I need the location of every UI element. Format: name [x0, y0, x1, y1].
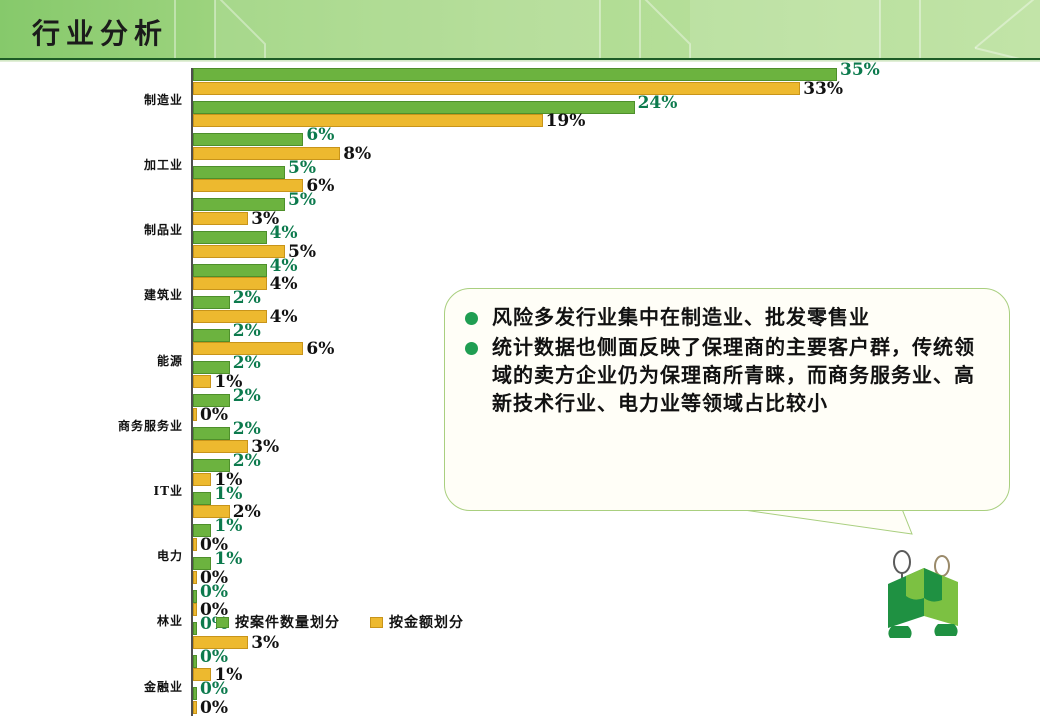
bar-按案件数量划分-9 [193, 687, 197, 700]
bar-value-label: 0% [200, 681, 228, 698]
slide-header: 行业分析 [0, 0, 1040, 58]
bar-按案件数量划分-3 [193, 264, 267, 277]
callout-bullet-text-0: 风险多发行业集中在制造业、批发零售业 [492, 303, 870, 331]
category-label-3: 建筑业 [8, 286, 183, 303]
bullet-dot-icon [465, 312, 478, 325]
bar-按金额划分-4 [193, 375, 211, 388]
bar-value-label: 2% [233, 290, 261, 307]
bar-按案件数量划分-8 [193, 590, 197, 603]
category-label-row: 电力 [0, 547, 183, 561]
bar-按金额划分-6 [193, 473, 211, 486]
category-label-1: 加工业 [8, 156, 183, 173]
bar-按金额划分-2 [193, 212, 248, 225]
callout-bullet-text-1: 统计数据也侧面反映了保理商的主要客户群，传统领域的卖方企业仍为保理商所青睐，而商… [492, 333, 991, 417]
bar-value-label: 5% [288, 192, 316, 209]
bar-value-label: 0% [200, 407, 228, 424]
page-title: 行业分析 [32, 12, 168, 52]
bar-value-label: 6% [306, 341, 334, 358]
bar-按案件数量划分-3 [193, 296, 230, 309]
category-label-row: IT业 [0, 482, 183, 496]
bar-value-label: 2% [233, 323, 261, 340]
category-label-row: 商务服务业 [0, 417, 183, 431]
category-label-row: 建筑业 [0, 286, 183, 300]
bar-value-label: 24% [638, 95, 678, 112]
bar-value-label: 0% [200, 584, 228, 601]
legend-label-0: 按案件数量划分 [235, 612, 340, 632]
bar-按金额划分-8 [193, 603, 197, 616]
company-logo-icon [866, 540, 986, 645]
bar-value-label: 1% [214, 486, 242, 503]
bar-value-label: 4% [270, 225, 298, 242]
category-label-row: 制品业 [0, 221, 183, 235]
bar-value-label: 33% [803, 81, 843, 98]
category-label-row: 能源 [0, 352, 183, 366]
chart-legend: 按案件数量划分 按金额划分 [216, 612, 464, 632]
bar-按金额划分-0 [193, 82, 800, 95]
bar-按案件数量划分-5 [193, 427, 230, 440]
category-label-4: 能源 [8, 352, 183, 369]
bar-value-label: 5% [288, 160, 316, 177]
category-label-row: 金融业 [0, 678, 183, 692]
bar-value-label: 8% [343, 146, 371, 163]
legend-swatch-green [216, 617, 229, 628]
bar-value-label: 1% [214, 518, 242, 535]
bar-value-label: 1% [214, 551, 242, 568]
bar-按金额划分-1 [193, 179, 303, 192]
bar-按案件数量划分-1 [193, 166, 285, 179]
bar-value-label: 4% [270, 258, 298, 275]
bar-value-label: 4% [270, 276, 298, 293]
bar-按金额划分-9 [193, 701, 197, 714]
bar-按案件数量划分-9 [193, 655, 197, 668]
bar-value-label: 0% [200, 649, 228, 666]
bar-按金额划分-7 [193, 538, 197, 551]
bar-value-label: 2% [233, 355, 261, 372]
bar-value-label: 4% [270, 309, 298, 326]
bar-value-label: 35% [840, 62, 880, 79]
category-label-5: 商务服务业 [8, 417, 183, 434]
category-label-row: 制造业 [0, 91, 183, 105]
bar-按案件数量划分-1 [193, 133, 303, 146]
bar-按案件数量划分-8 [193, 622, 197, 635]
bar-value-label: 3% [251, 635, 279, 652]
callout-bullet-0: 风险多发行业集中在制造业、批发零售业 [465, 303, 991, 331]
bar-value-label: 0% [200, 700, 228, 717]
bar-按案件数量划分-0 [193, 68, 837, 81]
category-label-2: 制品业 [8, 221, 183, 238]
category-label-row: 林业 [0, 612, 183, 626]
callout-box: 风险多发行业集中在制造业、批发零售业 统计数据也侧面反映了保理商的主要客户群，传… [444, 288, 1010, 511]
category-label-8: 林业 [8, 612, 183, 629]
bullet-dot-icon [465, 342, 478, 355]
bar-value-label: 2% [233, 388, 261, 405]
category-label-7: 电力 [8, 547, 183, 564]
bar-按金额划分-1 [193, 147, 340, 160]
bar-value-label: 6% [306, 127, 334, 144]
legend-swatch-orange [370, 617, 383, 628]
bar-value-label: 19% [546, 113, 586, 130]
bar-按案件数量划分-4 [193, 329, 230, 342]
legend-label-1: 按金额划分 [389, 612, 464, 632]
bar-按金额划分-5 [193, 408, 197, 421]
bar-按金额划分-0 [193, 114, 543, 127]
callout-bullet-1: 统计数据也侧面反映了保理商的主要客户群，传统领域的卖方企业仍为保理商所青睐，而商… [465, 333, 991, 417]
bar-按案件数量划分-6 [193, 492, 211, 505]
category-label-6: IT业 [8, 482, 183, 499]
bar-value-label: 2% [233, 421, 261, 438]
bar-按金额划分-7 [193, 571, 197, 584]
category-label-9: 金融业 [8, 678, 183, 695]
bar-按案件数量划分-2 [193, 231, 267, 244]
category-label-0: 制造业 [8, 91, 183, 108]
callout-content: 风险多发行业集中在制造业、批发零售业 统计数据也侧面反映了保理商的主要客户群，传… [445, 289, 1009, 417]
category-label-row: 加工业 [0, 156, 183, 170]
bar-value-label: 2% [233, 453, 261, 470]
